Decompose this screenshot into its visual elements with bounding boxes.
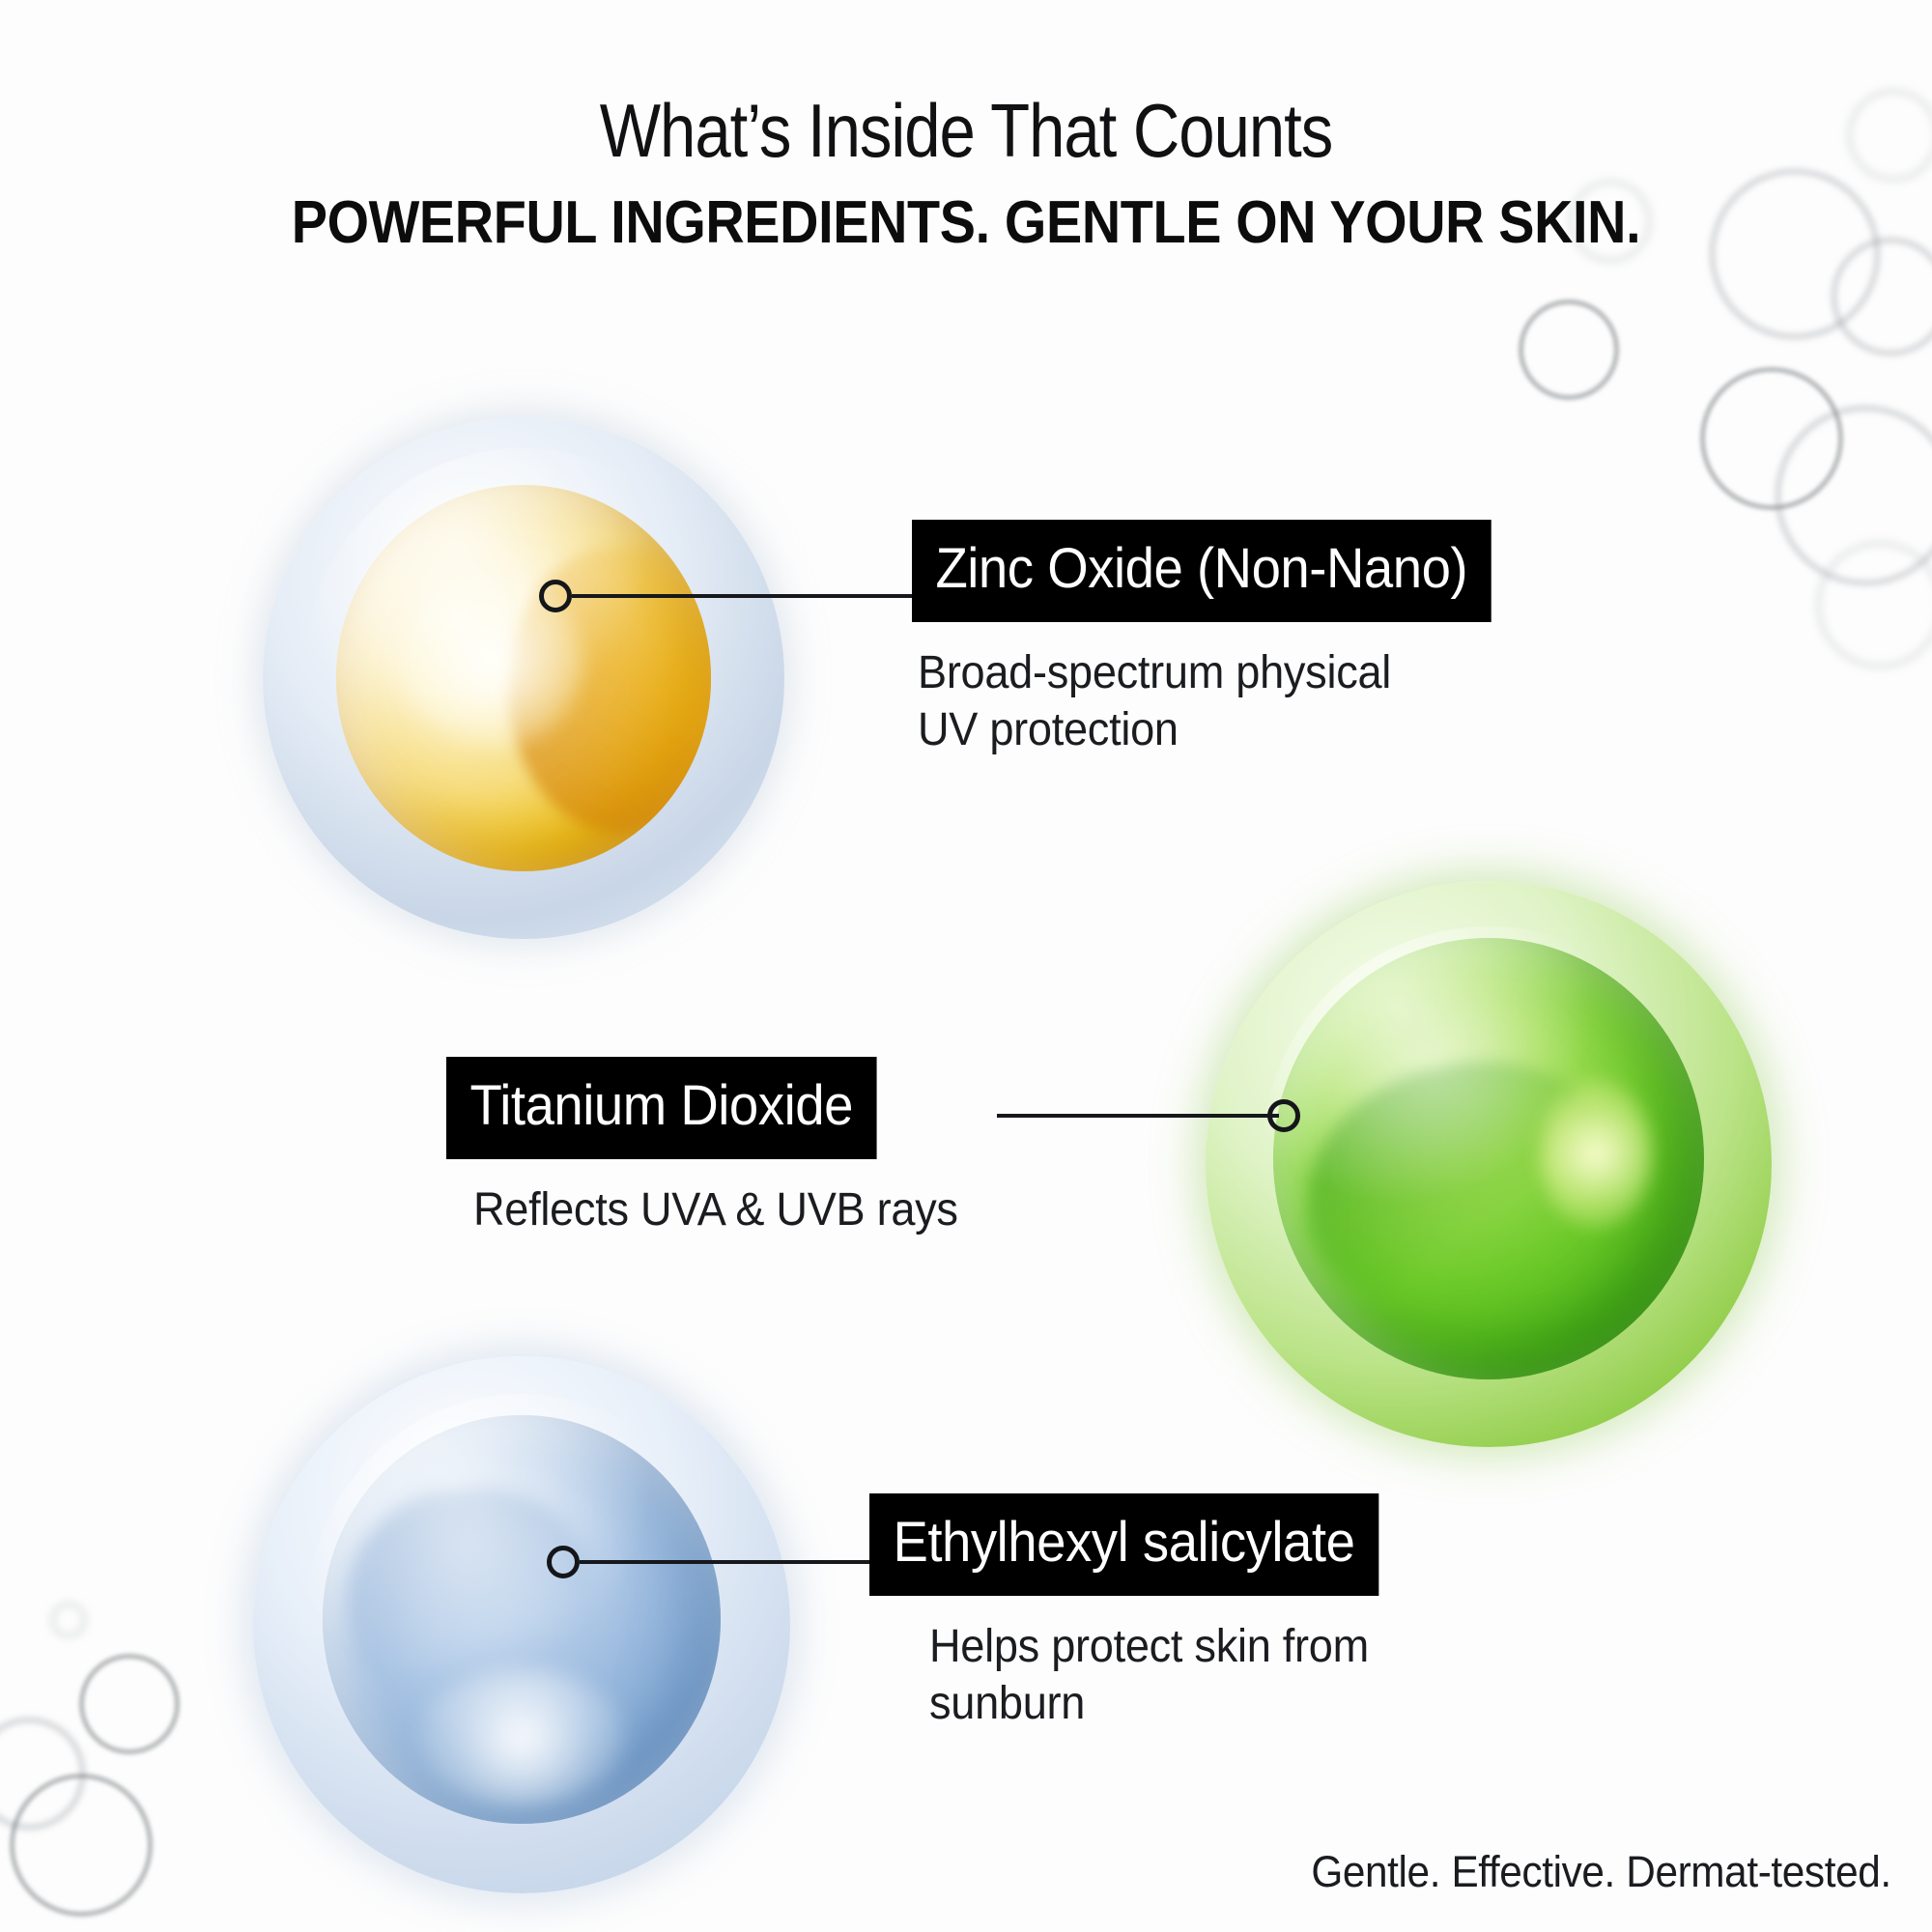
connector-dot-zinc-oxide <box>539 580 572 612</box>
sphere-highlight <box>418 1668 625 1807</box>
infographic-canvas: What’s Inside That Counts POWERFUL INGRE… <box>0 0 1932 1932</box>
sphere-core <box>1273 938 1703 1379</box>
bubble-ring-icon <box>1776 406 1932 585</box>
description-line: Reflects UVA & UVB rays <box>473 1182 958 1239</box>
ingredient-description-ethylhexyl-salicylate: Helps protect skin from sunburn <box>929 1619 1382 1732</box>
connector-dot-ethylhexyl-salicylate <box>547 1546 580 1578</box>
bubble-ring-icon <box>50 1602 87 1638</box>
page-title: What’s Inside That Counts <box>135 93 1797 168</box>
ingredient-label-zinc-oxide: Zinc Oxide (Non-Nano) <box>912 520 1492 622</box>
sphere-core <box>323 1415 720 1824</box>
description-line: sunburn <box>929 1676 1382 1733</box>
bubble-ring-icon <box>1519 299 1619 400</box>
bubble-ring-icon <box>10 1774 153 1917</box>
ingredient-description-titanium-dioxide: Reflects UVA & UVB rays <box>473 1182 958 1239</box>
connector-line-zinc-oxide <box>572 594 916 598</box>
description-line: UV protection <box>918 702 1492 759</box>
ingredient-sphere-titanium-dioxide <box>1206 881 1772 1447</box>
page-subtitle: POWERFUL INGREDIENTS. GENTLE ON YOUR SKI… <box>97 193 1835 253</box>
bubble-ring-icon <box>0 1718 85 1830</box>
bubble-ring-icon <box>1816 541 1932 668</box>
bubble-ring-icon <box>1700 367 1843 510</box>
connector-line-titanium-dioxide <box>997 1114 1279 1118</box>
ingredient-description-zinc-oxide: Broad-spectrum physical UV protection <box>918 645 1492 758</box>
bubble-ring-icon <box>79 1654 180 1754</box>
sphere-core <box>336 485 712 871</box>
footer-tagline: Gentle. Effective. Dermat-tested. <box>1312 1847 1891 1897</box>
description-line: Helps protect skin from <box>929 1619 1382 1676</box>
header-block: What’s Inside That Counts POWERFUL INGRE… <box>0 93 1932 253</box>
ingredient-label-titanium-dioxide: Titanium Dioxide <box>446 1057 876 1159</box>
ingredient-label-ethylhexyl-salicylate: Ethylhexyl salicylate <box>869 1493 1378 1596</box>
connector-line-ethylhexyl-salicylate <box>580 1560 875 1564</box>
ingredient-sphere-zinc-oxide <box>263 417 784 939</box>
bubble-ring-icon <box>1832 238 1932 355</box>
callout-titanium-dioxide: Titanium Dioxide Reflects UVA & UVB rays <box>446 1057 989 1239</box>
connector-dot-titanium-dioxide <box>1267 1099 1300 1132</box>
sphere-highlight <box>1540 1079 1652 1229</box>
callout-zinc-oxide: Zinc Oxide (Non-Nano) Broad-spectrum phy… <box>912 520 1528 758</box>
ingredient-sphere-ethylhexyl-salicylate <box>253 1356 790 1893</box>
callout-ethylhexyl-salicylate: Ethylhexyl salicylate Helps protect skin… <box>869 1493 1411 1732</box>
description-line: Broad-spectrum physical <box>918 645 1492 702</box>
